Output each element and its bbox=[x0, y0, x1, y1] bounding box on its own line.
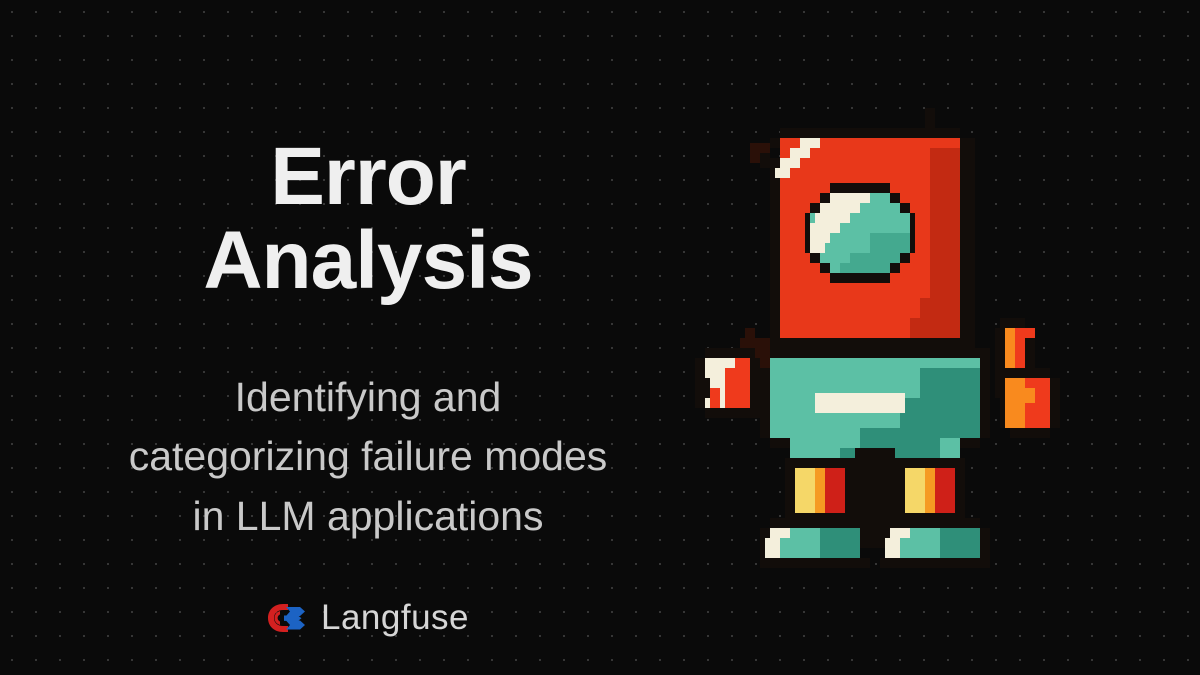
subtitle-line-2: categorizing failure modes bbox=[0, 427, 736, 486]
page-title: Error Analysis bbox=[0, 135, 736, 302]
pixel-robot-mascot bbox=[690, 108, 1060, 573]
subtitle-line-1: Identifying and bbox=[0, 368, 736, 427]
page-subtitle: Identifying and categorizing failure mod… bbox=[0, 368, 736, 546]
brand-footer: Langfuse bbox=[0, 600, 736, 635]
text-column: Error Analysis Identifying and categoriz… bbox=[0, 0, 736, 675]
slide-canvas: Error Analysis Identifying and categoriz… bbox=[0, 0, 1200, 675]
title-line-2: Analysis bbox=[0, 219, 736, 303]
langfuse-logo-icon bbox=[267, 602, 307, 634]
subtitle-line-3: in LLM applications bbox=[0, 487, 736, 546]
title-line-1: Error bbox=[270, 131, 466, 222]
brand-name: Langfuse bbox=[321, 600, 469, 635]
